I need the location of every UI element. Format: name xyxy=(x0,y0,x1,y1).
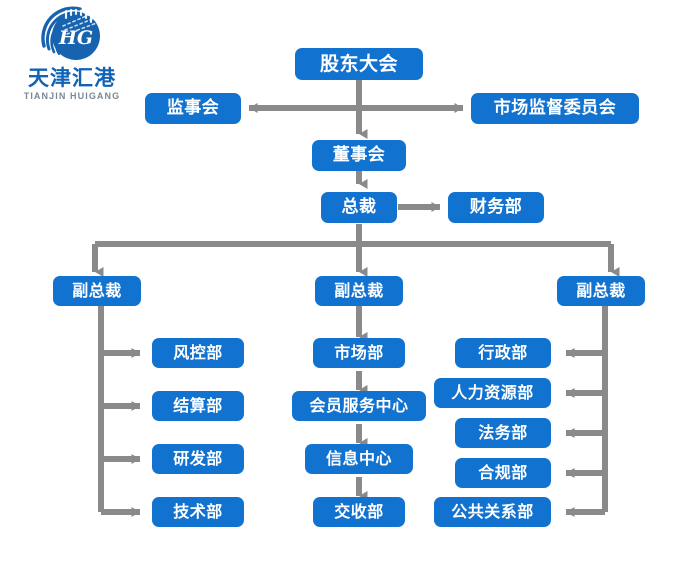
node-compliance-dept[interactable]: 合规部 xyxy=(455,458,551,488)
node-information-center[interactable]: 信息中心 xyxy=(305,444,413,474)
node-administration-dept[interactable]: 行政部 xyxy=(455,338,551,368)
node-human-resources-dept[interactable]: 人力资源部 xyxy=(434,378,551,408)
node-shareholders-meeting[interactable]: 股东大会 xyxy=(295,48,423,80)
node-public-relations-dept[interactable]: 公共关系部 xyxy=(434,497,551,527)
node-marketing-dept[interactable]: 市场部 xyxy=(313,338,405,368)
org-chart-canvas: HG 天津汇港 TIANJIN HUIGANG xyxy=(0,0,680,580)
node-market-supervision-committee[interactable]: 市场监督委员会 xyxy=(471,93,639,124)
node-board-of-directors[interactable]: 董事会 xyxy=(312,140,406,171)
node-vice-president-center[interactable]: 副总裁 xyxy=(315,276,403,306)
node-board-of-supervisors[interactable]: 监事会 xyxy=(145,93,241,124)
node-legal-affairs-dept[interactable]: 法务部 xyxy=(455,418,551,448)
node-president[interactable]: 总裁 xyxy=(321,192,397,223)
node-member-service-center[interactable]: 会员服务中心 xyxy=(292,391,426,421)
node-settlement-dept[interactable]: 结算部 xyxy=(152,391,244,421)
node-risk-control-dept[interactable]: 风控部 xyxy=(152,338,244,368)
node-delivery-settlement-dept[interactable]: 交收部 xyxy=(313,497,405,527)
node-rnd-dept[interactable]: 研发部 xyxy=(152,444,244,474)
node-technology-dept[interactable]: 技术部 xyxy=(152,497,244,527)
node-finance-dept[interactable]: 财务部 xyxy=(448,192,544,223)
node-vice-president-right[interactable]: 副总裁 xyxy=(557,276,645,306)
node-vice-president-left[interactable]: 副总裁 xyxy=(53,276,141,306)
